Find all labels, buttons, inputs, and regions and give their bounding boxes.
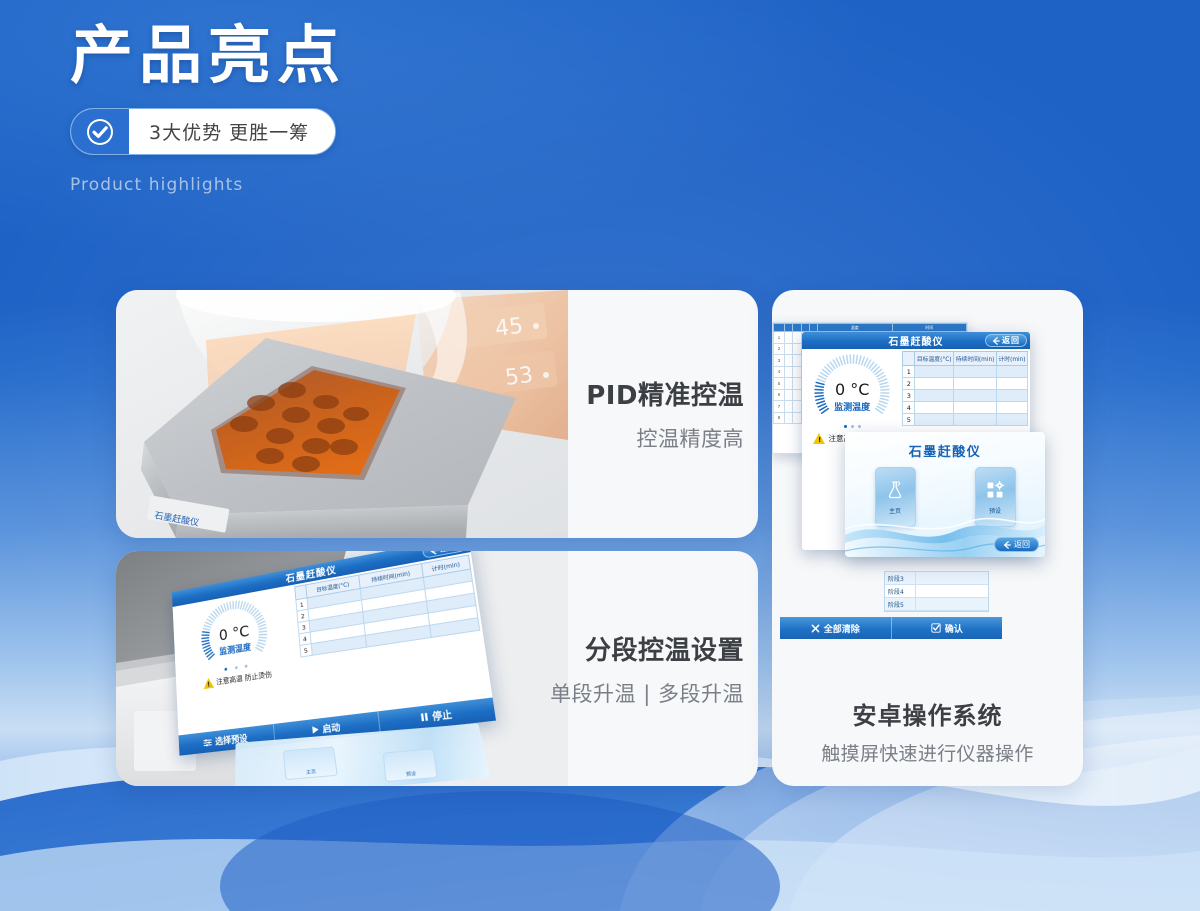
dialog-preset-label: 预设 bbox=[989, 506, 1001, 515]
dialog-home-button[interactable]: 主页 bbox=[875, 467, 916, 527]
stop-label: 停止 bbox=[431, 707, 452, 723]
play-icon bbox=[310, 725, 320, 735]
cell-duration[interactable] bbox=[954, 366, 997, 378]
cell-timer[interactable] bbox=[997, 378, 1028, 390]
row-index: 5 bbox=[903, 414, 915, 426]
cell-timer[interactable] bbox=[997, 366, 1028, 378]
grid-cell[interactable] bbox=[785, 332, 793, 344]
confirm-button[interactable]: 确认 bbox=[892, 617, 1003, 639]
preset-action-bar: 全部清除 确认 bbox=[780, 617, 1002, 639]
grid-row-num: 6 bbox=[774, 389, 785, 401]
grid-header-row: 温度 时间 bbox=[774, 324, 967, 332]
dialog-button-row: 主页 预设 bbox=[845, 467, 1045, 527]
tilted-touchscreen-photo: 石墨赶酸仪 返回 bbox=[116, 551, 568, 786]
segment-table[interactable]: 目标温度(°C) 持续时间(min) 计时(min) 1 2 3 4 5 bbox=[902, 351, 1028, 426]
back-arrow-icon bbox=[1003, 541, 1011, 549]
start-label: 启动 bbox=[322, 720, 341, 735]
stacked-screens-photo: 石墨赶酸仪 返回 0 °C 监测温度 bbox=[772, 322, 1083, 712]
grid-cell[interactable] bbox=[793, 343, 801, 355]
preset-row-stage4[interactable]: 阶段4 bbox=[885, 585, 988, 598]
grid-cell[interactable] bbox=[785, 389, 793, 401]
card-text-pid: PID精准控温 控温精度高 bbox=[519, 375, 744, 453]
warning-triangle-icon bbox=[203, 677, 214, 689]
grid-cell[interactable] bbox=[785, 355, 793, 367]
dialog-back-button[interactable]: 返回 bbox=[994, 537, 1039, 552]
grid-settings-icon bbox=[985, 480, 1005, 500]
splash-tile-home-label: 主页 bbox=[306, 769, 317, 776]
splash-tile-home[interactable]: 主页 bbox=[283, 746, 338, 780]
temperature-gauge: 0 °C 监测温度 bbox=[813, 353, 891, 431]
grid-th-pad3 bbox=[801, 324, 809, 332]
cell-temp[interactable] bbox=[915, 366, 954, 378]
row-index: 2 bbox=[903, 378, 915, 390]
page-subtitle: Product highlights bbox=[70, 175, 670, 195]
th-timer: 计时(min) bbox=[997, 352, 1028, 366]
grid-cell[interactable] bbox=[793, 378, 801, 390]
highlight-card-android[interactable]: 石墨赶酸仪 返回 0 °C 监测温度 bbox=[772, 290, 1083, 786]
cell-temp[interactable] bbox=[915, 414, 954, 426]
grid-row-num: 5 bbox=[774, 378, 785, 390]
back-button[interactable]: 返回 bbox=[985, 334, 1027, 347]
dot bbox=[858, 425, 861, 428]
cell-temp[interactable] bbox=[915, 402, 954, 414]
splash-tile-preset-label: 预设 bbox=[406, 771, 417, 778]
dot-active bbox=[225, 668, 228, 671]
svg-text:45: 45 bbox=[494, 314, 525, 342]
check-box-icon bbox=[931, 623, 941, 633]
card-title-android: 安卓操作系统 bbox=[772, 696, 1083, 731]
grid-th-temp: 温度 bbox=[818, 324, 892, 332]
temperature-gauge: 0 °C 监测温度 bbox=[199, 593, 272, 676]
cell-timer[interactable] bbox=[997, 414, 1028, 426]
warning-triangle-icon bbox=[813, 433, 825, 444]
grid-th-pad4 bbox=[809, 324, 817, 332]
grid-cell[interactable] bbox=[793, 412, 801, 424]
highlight-card-pid[interactable]: 45 53 bbox=[116, 290, 758, 538]
home-dialog[interactable]: 石墨赶酸仪 主页 bbox=[845, 432, 1045, 557]
x-icon bbox=[811, 624, 820, 633]
dot bbox=[235, 666, 238, 669]
cell-temp[interactable] bbox=[915, 378, 954, 390]
dialog-title: 石墨赶酸仪 bbox=[845, 441, 1045, 460]
dot-active bbox=[844, 425, 847, 428]
grid-cell[interactable] bbox=[785, 401, 793, 413]
gauge-label: 监测温度 bbox=[813, 400, 891, 413]
th-target-temp: 目标温度(°C) bbox=[915, 352, 954, 366]
gauge-value: 0 °C bbox=[813, 380, 891, 399]
cell-duration[interactable] bbox=[954, 378, 997, 390]
graphite-block-heating-photo: 45 53 bbox=[116, 290, 568, 538]
grid-th-blank bbox=[774, 324, 785, 332]
flask-icon bbox=[885, 480, 905, 500]
row-index: 4 bbox=[903, 402, 915, 414]
back-arrow-icon bbox=[992, 337, 1000, 345]
confirm-label: 确认 bbox=[945, 622, 963, 635]
table-row[interactable]: 5 bbox=[903, 414, 1028, 426]
grid-row-num: 1 bbox=[774, 332, 785, 344]
back-arrow-icon bbox=[429, 551, 438, 555]
grid-row-num: 2 bbox=[774, 343, 785, 355]
grid-cell[interactable] bbox=[785, 412, 793, 424]
highlight-badge: 3大优势 更胜一筹 bbox=[70, 108, 336, 155]
card-text-android: 安卓操作系统 触摸屏快速进行仪器操作 bbox=[772, 696, 1083, 766]
dot bbox=[851, 425, 854, 428]
row-index: 1 bbox=[903, 366, 915, 378]
cell-temp[interactable] bbox=[915, 390, 954, 402]
card-title-segment: 分段控温设置 bbox=[519, 630, 744, 667]
table-header-row: 目标温度(°C) 持续时间(min) 计时(min) bbox=[903, 352, 1028, 366]
grid-cell[interactable] bbox=[793, 389, 801, 401]
grid-cell[interactable] bbox=[785, 378, 793, 390]
grid-th-time: 时间 bbox=[892, 324, 966, 332]
page-title: 产品亮点 bbox=[70, 20, 670, 92]
card-subtitle-pid: 控温精度高 bbox=[519, 423, 744, 453]
card-title-pid: PID精准控温 bbox=[519, 375, 744, 412]
card-subtitle-segment: 单段升温 | 多段升温 bbox=[519, 678, 744, 708]
table-row[interactable]: 3 bbox=[903, 390, 1028, 402]
dialog-back-label: 返回 bbox=[1014, 539, 1030, 550]
card-text-segment: 分段控温设置 单段升温 | 多段升温 bbox=[519, 630, 744, 708]
highlight-card-segment[interactable]: 石墨赶酸仪 返回 bbox=[116, 551, 758, 786]
grid-cell[interactable] bbox=[793, 401, 801, 413]
grid-cell[interactable] bbox=[793, 366, 801, 378]
cell-timer[interactable] bbox=[997, 390, 1028, 402]
grid-cell[interactable] bbox=[793, 355, 801, 367]
check-circle-icon bbox=[71, 109, 129, 154]
table-row[interactable]: 2 bbox=[903, 378, 1028, 390]
grid-cell[interactable] bbox=[793, 332, 801, 344]
preset-row-stage3[interactable]: 阶段3 bbox=[885, 572, 988, 585]
cell-duration[interactable] bbox=[954, 414, 997, 426]
splash-tile-preset[interactable]: 预设 bbox=[383, 748, 438, 782]
table-row[interactable]: 4 bbox=[903, 402, 1028, 414]
grid-cell[interactable] bbox=[785, 343, 793, 355]
back-label: 返回 bbox=[1002, 335, 1020, 346]
screen-app-title: 石墨赶酸仪 bbox=[889, 333, 944, 348]
badge-label: 3大优势 更胜一筹 bbox=[129, 109, 335, 154]
clear-all-label: 全部清除 bbox=[824, 622, 860, 635]
dot bbox=[245, 665, 248, 668]
back-label: 返回 bbox=[439, 551, 459, 555]
th-duration: 持续时间(min) bbox=[954, 352, 997, 366]
grid-th-pad1 bbox=[785, 324, 793, 332]
cell-timer[interactable] bbox=[997, 402, 1028, 414]
dialog-preset-button[interactable]: 预设 bbox=[975, 467, 1016, 527]
row-index: 3 bbox=[903, 390, 915, 402]
table-row[interactable]: 1 bbox=[903, 366, 1028, 378]
card-subtitle-android: 触摸屏快速进行仪器操作 bbox=[772, 739, 1083, 766]
cell-duration[interactable] bbox=[954, 402, 997, 414]
grid-th-pad2 bbox=[793, 324, 801, 332]
screen-title-bar: 石墨赶酸仪 返回 bbox=[802, 332, 1030, 349]
th-index bbox=[903, 352, 915, 366]
grid-row-num: 3 bbox=[774, 355, 785, 367]
preset-stage-rows[interactable]: 阶段3 阶段4 阶段5 bbox=[884, 571, 989, 612]
grid-cell[interactable] bbox=[785, 366, 793, 378]
pause-icon bbox=[419, 712, 430, 723]
preset-row-stage5[interactable]: 阶段5 bbox=[885, 598, 988, 611]
dialog-home-label: 主页 bbox=[889, 506, 901, 515]
grid-row-num: 4 bbox=[774, 366, 785, 378]
grid-row-num: 7 bbox=[774, 401, 785, 413]
cell-duration[interactable] bbox=[954, 390, 997, 402]
page-header: 产品亮点 3大优势 更胜一筹 Product highlights bbox=[70, 20, 670, 195]
sliders-icon bbox=[203, 737, 212, 748]
clear-all-button[interactable]: 全部清除 bbox=[780, 617, 892, 639]
gauge-page-dots bbox=[813, 415, 891, 433]
grid-row-num: 8 bbox=[774, 412, 785, 424]
